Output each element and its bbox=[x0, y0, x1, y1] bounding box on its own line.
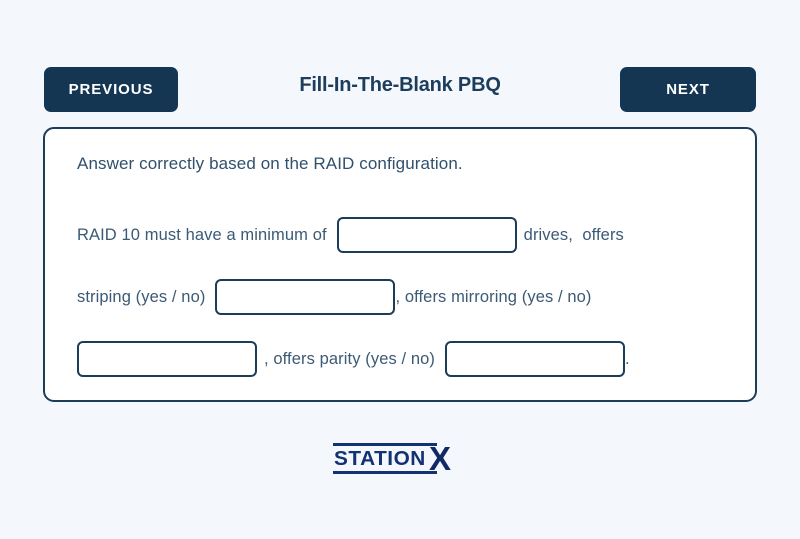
sentence-line-1: RAID 10 must have a minimum of drives, o… bbox=[77, 204, 727, 266]
text-offers-parity: , offers parity (yes / no) bbox=[264, 350, 435, 369]
blank-minimum-drives-input[interactable] bbox=[337, 217, 517, 253]
logo-wordmark: STATION bbox=[334, 448, 426, 471]
logo-bottom-bar bbox=[333, 471, 437, 474]
fill-in-the-blank-sentence: RAID 10 must have a minimum of drives, o… bbox=[77, 204, 727, 390]
previous-button[interactable]: PREVIOUS bbox=[44, 67, 178, 112]
page-title: Fill-In-The-Blank PBQ bbox=[200, 74, 600, 97]
text-offers-mirroring: , offers mirroring (yes / no) bbox=[395, 288, 591, 307]
blank-parity-input[interactable] bbox=[445, 341, 625, 377]
blank-striping-input[interactable] bbox=[215, 279, 395, 315]
blank-mirroring-input[interactable] bbox=[77, 341, 257, 377]
text-striping: striping (yes / no) bbox=[77, 288, 205, 307]
text-drives-offers: drives, offers bbox=[524, 226, 624, 245]
question-prompt: Answer correctly based on the RAID confi… bbox=[77, 154, 463, 174]
text-raid-minimum: RAID 10 must have a minimum of bbox=[77, 226, 327, 245]
logo-top-bar bbox=[333, 443, 437, 446]
next-button[interactable]: NEXT bbox=[620, 67, 756, 112]
sentence-line-3: , offers parity (yes / no) . bbox=[77, 328, 727, 390]
sentence-line-2: striping (yes / no) , offers mirroring (… bbox=[77, 266, 727, 328]
header-bar: PREVIOUS Fill-In-The-Blank PBQ NEXT bbox=[0, 0, 800, 120]
question-card: Answer correctly based on the RAID confi… bbox=[43, 127, 757, 402]
stationx-logo: STATION X bbox=[333, 443, 473, 475]
text-period: . bbox=[625, 350, 630, 369]
